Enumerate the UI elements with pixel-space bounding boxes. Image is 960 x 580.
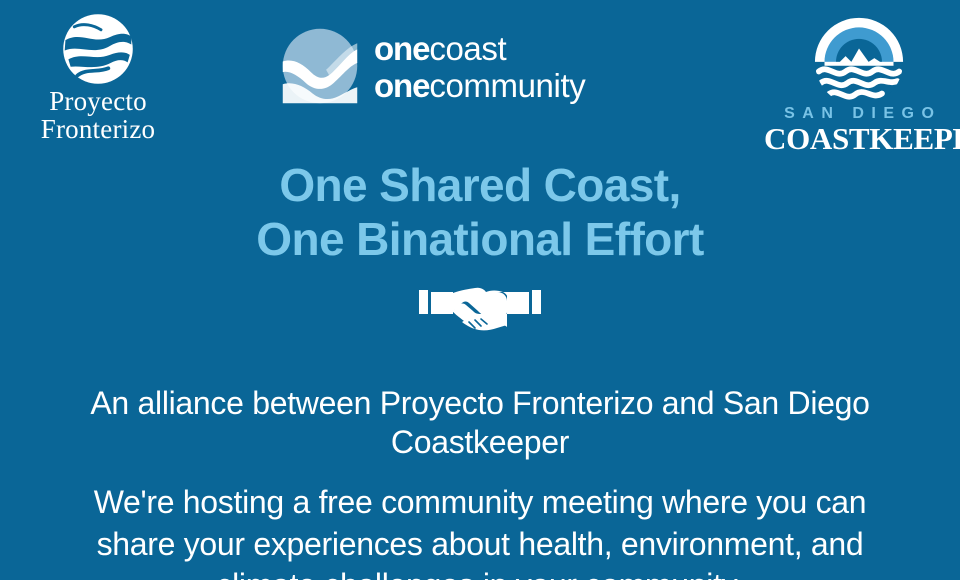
sun-mountain-waves-icon xyxy=(811,14,907,106)
meeting-invitation-text: We're hosting a free community meeting w… xyxy=(80,482,880,580)
flyer-canvas: Proyecto Fronterizo onecoast onecommunit… xyxy=(0,0,960,580)
logo-san-diego-coastkeeper: SAN DIEGO COASTKEEPER® xyxy=(764,14,954,155)
logo-word-coast: coast xyxy=(429,30,506,67)
page-title: One Shared Coast, One Binational Effort xyxy=(0,158,960,267)
logo-line-one-coast: onecoast xyxy=(374,30,585,67)
logo-proyecto-fronterizo: Proyecto Fronterizo xyxy=(8,12,188,143)
logo-one-coast-wordmark: onecoast onecommunity xyxy=(374,28,585,105)
logo-word-one-1: one xyxy=(374,30,429,67)
handshake-icon xyxy=(417,278,543,336)
alliance-statement: An alliance between Proyecto Fronterizo … xyxy=(80,384,880,462)
logo-coastkeeper-name: COASTKEEPER® xyxy=(764,123,960,156)
wave-circle-icon xyxy=(282,28,358,104)
handshake-divider xyxy=(0,278,960,341)
globe-waves-icon xyxy=(61,12,135,86)
logo-line-one-community: onecommunity xyxy=(374,67,585,104)
logo-one-coast-one-community: onecoast onecommunity xyxy=(282,28,585,105)
logo-coastkeeper-text: COASTKEEPER xyxy=(764,121,960,156)
logo-word-one-2: one xyxy=(374,67,429,104)
logo-proyecto-fronterizo-wordmark: Proyecto Fronterizo xyxy=(8,88,188,143)
logo-row: Proyecto Fronterizo onecoast onecommunit… xyxy=(0,0,960,160)
logo-word-community: community xyxy=(429,67,585,104)
